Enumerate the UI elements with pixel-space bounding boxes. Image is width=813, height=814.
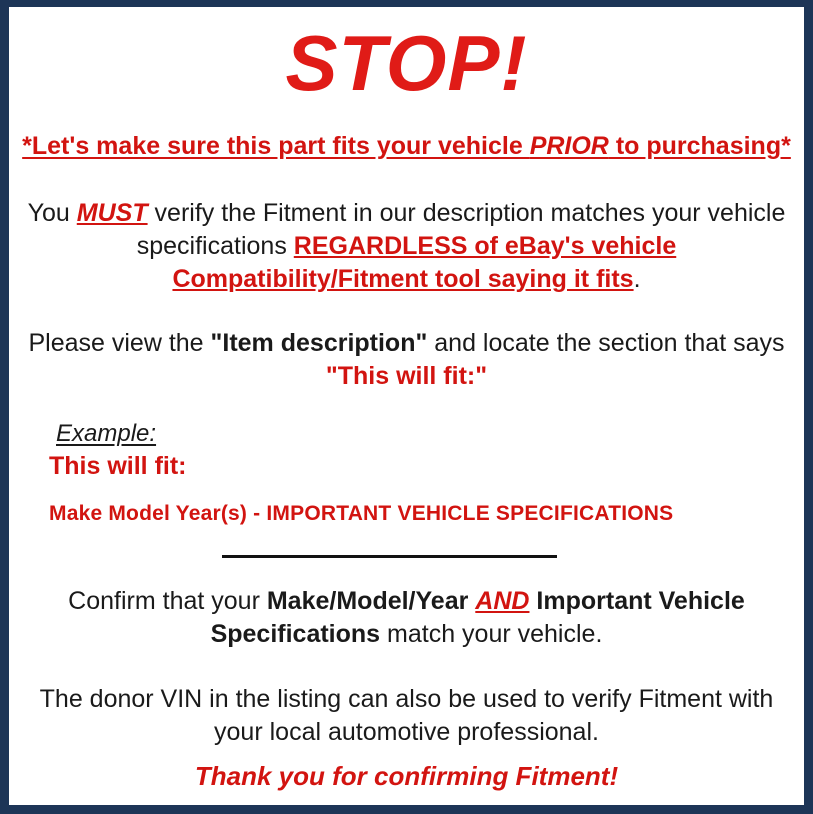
donor-vin-paragraph: The donor VIN in the listing can also be… (27, 683, 786, 749)
confirm-part4: match your vehicle. (380, 620, 602, 648)
desc-part1: Please view the (28, 329, 210, 357)
tagline-before: *Let's make sure this part fits your veh… (22, 132, 530, 160)
this-will-fit-emphasis: "This will fit:" (326, 362, 487, 390)
thank-you-message: Thank you for confirming Fitment! (9, 759, 804, 793)
must-verify-paragraph: You MUST verify the Fitment in our descr… (27, 197, 786, 296)
must-part1: You (28, 199, 77, 227)
example-label: Example: (56, 419, 156, 449)
and-emphasis: AND (475, 587, 529, 615)
example-spec-line: Make Model Year(s) - IMPORTANT VEHICLE S… (49, 500, 673, 528)
fitment-notice-card: STOP! *Let's make sure this part fits yo… (9, 7, 804, 805)
tagline-after: to purchasing* (609, 132, 791, 160)
desc-part2: and locate the section that says (427, 329, 784, 357)
item-description-paragraph: Please view the "Item description" and l… (27, 327, 786, 393)
example-fit-heading: This will fit: (49, 450, 187, 482)
tagline: *Let's make sure this part fits your veh… (9, 130, 804, 162)
tagline-emphasis-prior: PRIOR (530, 132, 609, 160)
make-model-year-emphasis: Make/Model/Year (267, 587, 468, 615)
item-description-emphasis: "Item description" (211, 329, 428, 357)
must-part3: . (634, 265, 641, 293)
section-divider (222, 555, 557, 558)
page-title: STOP! (9, 20, 804, 106)
must-emphasis: MUST (77, 199, 148, 227)
confirm-paragraph: Confirm that your Make/Model/Year AND Im… (27, 585, 786, 651)
confirm-part1: Confirm that your (68, 587, 267, 615)
